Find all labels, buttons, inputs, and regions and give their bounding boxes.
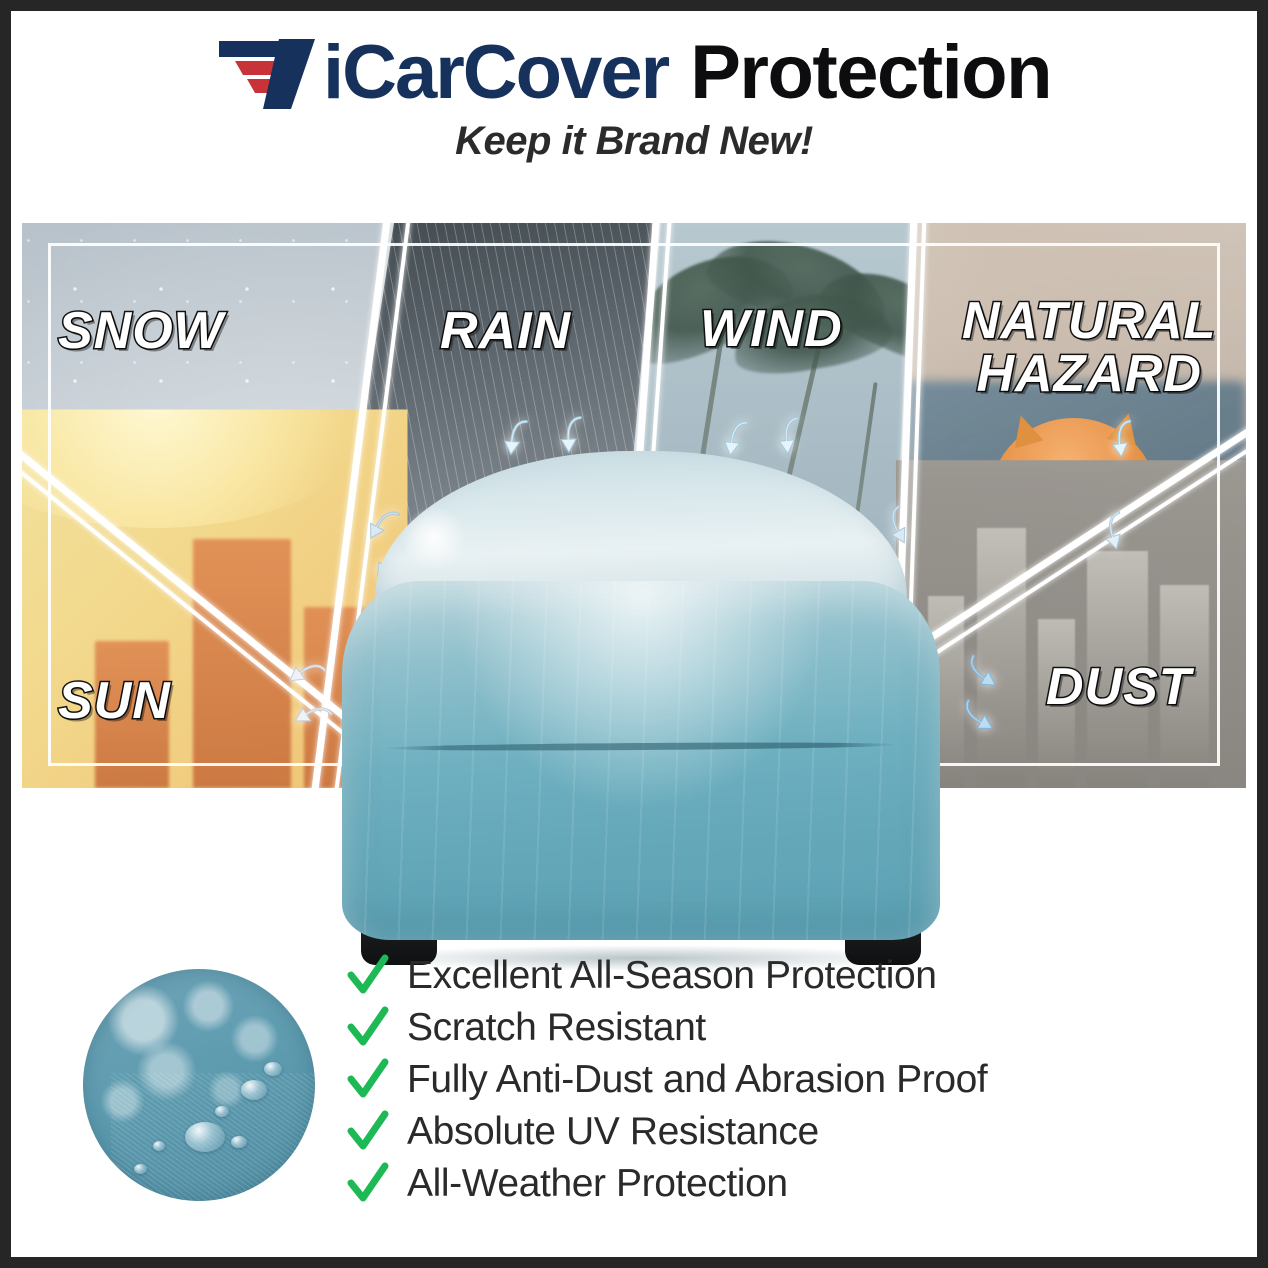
panel-label-snow: SNOW bbox=[58, 305, 224, 358]
feature-item: Absolute UV Resistance bbox=[347, 1109, 1167, 1155]
check-icon bbox=[347, 1005, 389, 1051]
panel-label-natural-hazard: NATURAL HAZARD bbox=[962, 295, 1216, 401]
panel-label-wind: WIND bbox=[700, 303, 843, 356]
feature-list: Excellent All-Season Protection Scratch … bbox=[347, 953, 1167, 1213]
car-wheel-right bbox=[845, 873, 921, 965]
header: iCarCover Protection Keep it Brand New! bbox=[11, 11, 1257, 211]
feature-item: Excellent All-Season Protection bbox=[347, 953, 1167, 999]
check-icon bbox=[347, 953, 389, 999]
deflection-arrow-icon bbox=[1105, 417, 1144, 461]
panel-label-rain: RAIN bbox=[440, 305, 571, 358]
palm-trunk bbox=[835, 382, 878, 662]
check-icon bbox=[347, 1161, 389, 1207]
feature-label: All-Weather Protection bbox=[407, 1161, 788, 1206]
infographic-page: iCarCover Protection Keep it Brand New! … bbox=[0, 0, 1268, 1268]
panel-label-sun: SUN bbox=[58, 675, 171, 728]
deflection-arrow-icon bbox=[719, 417, 757, 460]
check-icon bbox=[347, 1109, 389, 1155]
cat-ear-left bbox=[1006, 411, 1043, 448]
water-bead bbox=[215, 1106, 229, 1117]
panel-label-dust: DUST bbox=[1046, 661, 1192, 714]
feature-item: Scratch Resistant bbox=[347, 1005, 1167, 1051]
feature-item: All-Weather Protection bbox=[347, 1161, 1167, 1207]
water-bead bbox=[134, 1164, 147, 1174]
deflection-arrow-icon bbox=[773, 414, 811, 457]
water-bead bbox=[264, 1062, 282, 1076]
weather-collage: ❄ bbox=[22, 223, 1246, 788]
deflection-arrow-icon bbox=[500, 417, 537, 459]
deflection-arrow-icon bbox=[556, 414, 592, 456]
check-icon bbox=[347, 1057, 389, 1103]
water-bead bbox=[185, 1122, 225, 1152]
fabric-swatch bbox=[73, 959, 325, 1211]
tagline: Keep it Brand New! bbox=[455, 119, 813, 164]
brand-name: iCarCover bbox=[323, 37, 668, 109]
brand-suffix: Protection bbox=[690, 37, 1051, 109]
palm-trunk bbox=[668, 315, 728, 662]
feature-label: Absolute UV Resistance bbox=[407, 1109, 819, 1154]
feature-label: Fully Anti-Dust and Abrasion Proof bbox=[407, 1057, 987, 1102]
car-wheel-left bbox=[361, 873, 437, 965]
feature-label: Scratch Resistant bbox=[407, 1005, 706, 1050]
palm-trunk bbox=[744, 340, 823, 660]
fabric-swatch-image bbox=[83, 969, 315, 1201]
water-bead bbox=[153, 1141, 165, 1151]
icarcover-wing-logo-icon bbox=[217, 37, 321, 111]
brand-title-row: iCarCover Protection bbox=[217, 35, 1051, 111]
feature-label: Excellent All-Season Protection bbox=[407, 953, 937, 998]
feature-item: Fully Anti-Dust and Abrasion Proof bbox=[347, 1057, 1167, 1103]
